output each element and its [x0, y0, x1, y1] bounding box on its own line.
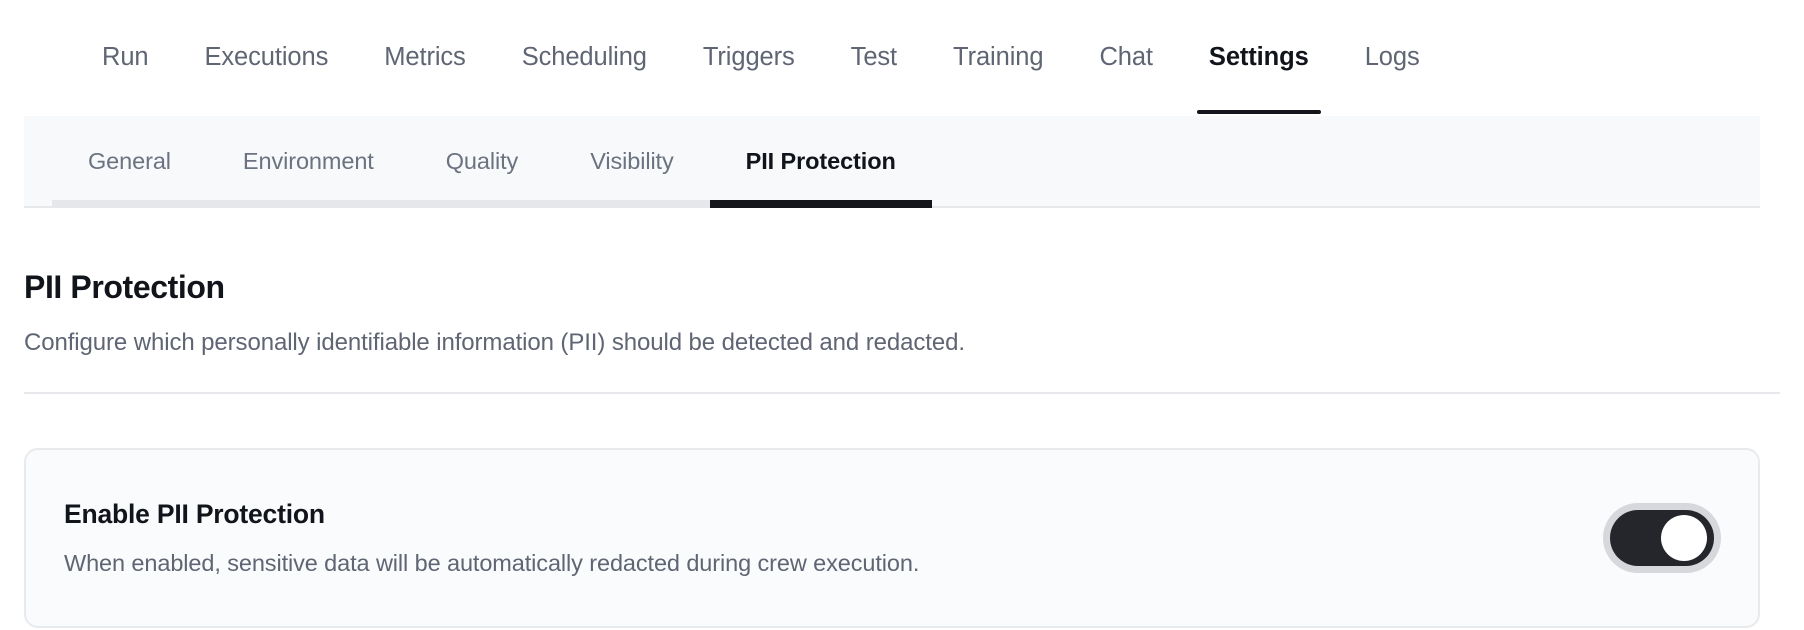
- tab-metrics-label: Metrics: [384, 43, 465, 72]
- tab-scheduling-label: Scheduling: [522, 43, 647, 72]
- subtab-pii-protection[interactable]: PII Protection: [710, 116, 932, 206]
- tab-metrics[interactable]: Metrics: [356, 0, 493, 114]
- setting-title: Enable PII Protection: [64, 499, 919, 531]
- tab-chat-label: Chat: [1099, 43, 1152, 72]
- subtab-general-label: General: [88, 148, 171, 175]
- primary-tab-bar: Run Executions Metrics Scheduling Trigge…: [0, 0, 1804, 114]
- tab-settings-label: Settings: [1209, 43, 1309, 72]
- enable-pii-protection-toggle[interactable]: [1610, 510, 1714, 566]
- tab-executions-label: Executions: [204, 43, 328, 72]
- toggle-knob: [1661, 515, 1707, 561]
- subtab-environment[interactable]: Environment: [207, 116, 410, 206]
- tab-training[interactable]: Training: [925, 0, 1071, 114]
- subtab-environment-label: Environment: [243, 148, 374, 175]
- section-divider: [24, 392, 1780, 394]
- tab-logs[interactable]: Logs: [1337, 0, 1448, 114]
- tab-executions[interactable]: Executions: [176, 0, 356, 114]
- tab-settings[interactable]: Settings: [1181, 0, 1337, 114]
- tab-test[interactable]: Test: [823, 0, 925, 114]
- setting-text-block: Enable PII Protection When enabled, sens…: [64, 499, 919, 578]
- subtab-quality-label: Quality: [446, 148, 518, 175]
- tab-training-label: Training: [953, 43, 1043, 72]
- subtab-quality[interactable]: Quality: [410, 116, 554, 206]
- settings-page: Run Executions Metrics Scheduling Trigge…: [0, 0, 1804, 630]
- tab-test-label: Test: [851, 43, 897, 72]
- tab-run-label: Run: [102, 43, 148, 72]
- tab-chat[interactable]: Chat: [1071, 0, 1180, 114]
- tab-triggers-label: Triggers: [703, 43, 795, 72]
- subtab-visibility-label: Visibility: [590, 148, 673, 175]
- tab-run[interactable]: Run: [74, 0, 176, 114]
- toggle-container: [1610, 510, 1722, 566]
- enable-pii-protection-card: Enable PII Protection When enabled, sens…: [24, 448, 1760, 628]
- tab-logs-label: Logs: [1365, 43, 1420, 72]
- subtab-general[interactable]: General: [52, 116, 207, 206]
- section-header: PII Protection Configure which personall…: [0, 208, 1804, 358]
- main-content: PII Protection Configure which personall…: [0, 208, 1804, 628]
- setting-description: When enabled, sensitive data will be aut…: [64, 549, 919, 578]
- subtab-visibility[interactable]: Visibility: [554, 116, 709, 206]
- tab-triggers[interactable]: Triggers: [675, 0, 823, 114]
- page-title: PII Protection: [24, 268, 1780, 306]
- page-subtitle: Configure which personally identifiable …: [24, 328, 1780, 358]
- settings-subtab-bar: General Environment Quality Visibility P…: [24, 116, 1760, 208]
- subtab-pii-protection-label: PII Protection: [746, 148, 896, 175]
- tab-scheduling[interactable]: Scheduling: [494, 0, 675, 114]
